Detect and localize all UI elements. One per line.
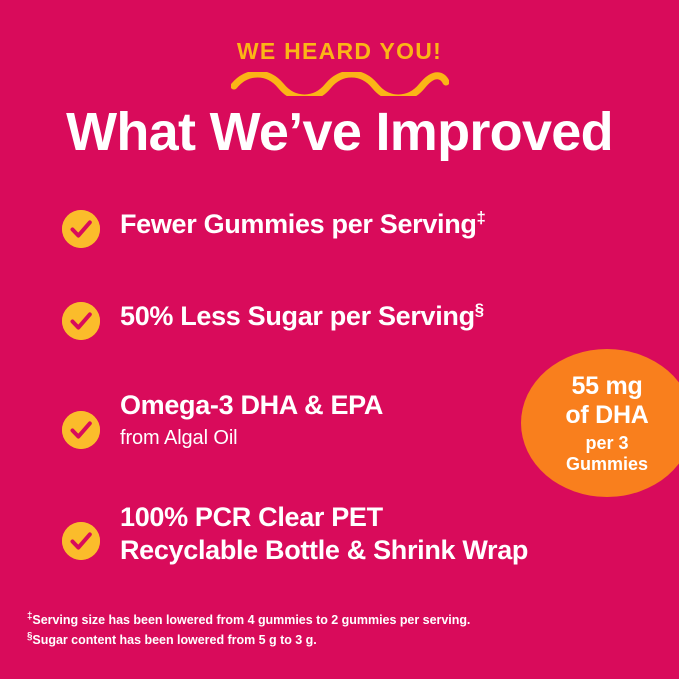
list-item: Omega-3 DHA & EPA from Algal Oil bbox=[62, 389, 622, 451]
footnote-marker: § bbox=[475, 300, 484, 319]
list-item-title: Fewer Gummies per Serving‡ bbox=[120, 208, 486, 241]
check-circle-icon bbox=[62, 210, 100, 248]
list-item: 100% PCR Clear PET Recyclable Bottle & S… bbox=[62, 501, 622, 567]
list-item-text: Omega-3 DHA & EPA from Algal Oil bbox=[120, 389, 383, 451]
promo-poster: WE HEARD YOU! What We’ve Improved 55 mg … bbox=[0, 0, 679, 679]
list-item-title-text: Fewer Gummies per Serving bbox=[120, 209, 477, 239]
list-item: Fewer Gummies per Serving‡ bbox=[62, 208, 622, 248]
list-item-title: 100% PCR Clear PET bbox=[120, 501, 528, 534]
list-item-text: 50% Less Sugar per Serving§ bbox=[120, 300, 484, 333]
list-item-text: 100% PCR Clear PET Recyclable Bottle & S… bbox=[120, 501, 528, 567]
footnote: ‡Serving size has been lowered from 4 gu… bbox=[27, 610, 470, 630]
footnotes-block: ‡Serving size has been lowered from 4 gu… bbox=[27, 610, 470, 650]
page-title: What We’ve Improved bbox=[0, 103, 679, 161]
kicker-text: WE HEARD YOU! bbox=[0, 40, 679, 63]
list-item-subtitle: from Algal Oil bbox=[120, 425, 383, 451]
footnote: §Sugar content has been lowered from 5 g… bbox=[27, 630, 470, 650]
list-item-text: Fewer Gummies per Serving‡ bbox=[120, 208, 486, 241]
improvements-list: Fewer Gummies per Serving‡ 50% Less Suga… bbox=[62, 200, 622, 567]
squiggle-underline-icon bbox=[231, 72, 449, 96]
footnote-marker: ‡ bbox=[477, 208, 486, 227]
check-circle-icon bbox=[62, 302, 100, 340]
list-item-title-line2: Recyclable Bottle & Shrink Wrap bbox=[120, 534, 528, 567]
list-item-title: 50% Less Sugar per Serving§ bbox=[120, 300, 484, 333]
list-item-title-text: 50% Less Sugar per Serving bbox=[120, 301, 475, 331]
check-circle-icon bbox=[62, 411, 100, 449]
footnote-text: Serving size has been lowered from 4 gum… bbox=[32, 613, 470, 627]
check-circle-icon bbox=[62, 522, 100, 560]
list-item: 50% Less Sugar per Serving§ bbox=[62, 300, 622, 340]
list-item-title: Omega-3 DHA & EPA bbox=[120, 389, 383, 422]
footnote-text: Sugar content has been lowered from 5 g … bbox=[32, 633, 316, 647]
kicker-block: WE HEARD YOU! bbox=[0, 40, 679, 96]
